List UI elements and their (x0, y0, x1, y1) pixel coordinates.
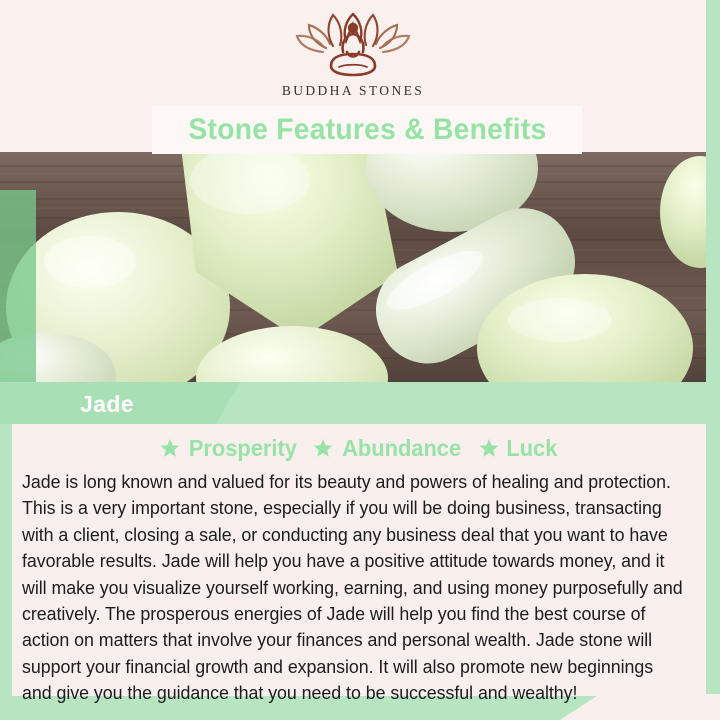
page-title: Stone Features & Benefits (188, 113, 546, 147)
benefits-list: Prosperity Abundance Luck (12, 430, 706, 466)
stone-name: Jade (80, 391, 134, 418)
stone-info-poster: BUDDHA STONES Stone Features & Benefits (0, 0, 720, 720)
stone-description: Jade is long known and valued for its be… (22, 469, 686, 707)
brand-name: BUDDHA STONES (282, 83, 424, 99)
star-icon (313, 438, 333, 458)
benefit-item: Prosperity (160, 435, 300, 462)
benefit-item: Abundance (313, 435, 464, 462)
benefit-label: Prosperity (189, 435, 297, 462)
photo-accent-bar (0, 190, 36, 390)
brand-logo: BUDDHA STONES (0, 8, 706, 108)
title-banner: Stone Features & Benefits (152, 106, 582, 154)
content-panel: Prosperity Abundance Luck Jade (12, 424, 706, 696)
benefit-item: Luck (479, 435, 559, 462)
benefit-label: Luck (506, 435, 557, 462)
stone-photo (0, 152, 706, 382)
lotus-meditation-icon (293, 8, 413, 82)
star-icon (479, 438, 499, 458)
star-icon (160, 438, 180, 458)
benefit-label: Abundance (343, 435, 462, 462)
